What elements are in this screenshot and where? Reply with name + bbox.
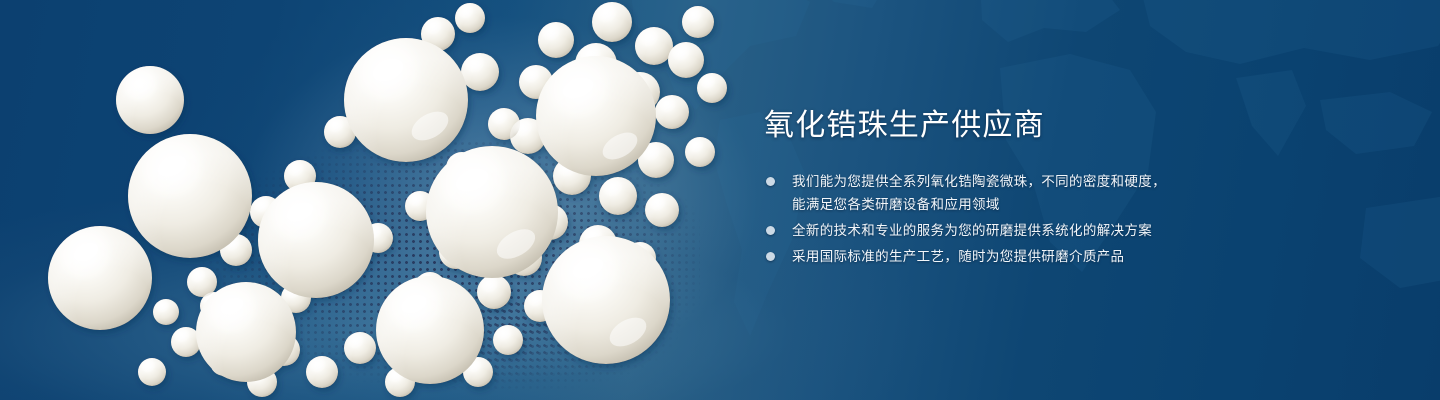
list-item: 我们能为您提供全系列氧化锆陶瓷微珠，不同的密度和硬度， 能满足您各类研磨设备和应… [764,170,1234,216]
list-item-line: 采用国际标准的生产工艺，随时为您提供研磨介质产品 [792,245,1234,268]
list-item: 全新的技术和专业的服务为您的研磨提供系统化的解决方案 [764,219,1234,242]
banner-text-block: 氧化锆珠生产供应商 我们能为您提供全系列氧化锆陶瓷微珠，不同的密度和硬度， 能满… [764,108,1234,271]
list-item-line: 全新的技术和专业的服务为您的研磨提供系统化的解决方案 [792,219,1234,242]
feature-list: 我们能为您提供全系列氧化锆陶瓷微珠，不同的密度和硬度， 能满足您各类研磨设备和应… [764,170,1234,268]
bullet-dot-icon [766,177,775,186]
hero-banner: 氧化锆珠生产供应商 我们能为您提供全系列氧化锆陶瓷微珠，不同的密度和硬度， 能满… [0,0,1440,400]
bullet-dot-icon [766,252,775,261]
page-title: 氧化锆珠生产供应商 [764,108,1234,144]
list-item: 采用国际标准的生产工艺，随时为您提供研磨介质产品 [764,245,1234,268]
list-item-line: 我们能为您提供全系列氧化锆陶瓷微珠，不同的密度和硬度， [792,170,1234,193]
bullet-dot-icon [766,226,775,235]
list-item-line: 能满足您各类研磨设备和应用领域 [792,193,1234,216]
